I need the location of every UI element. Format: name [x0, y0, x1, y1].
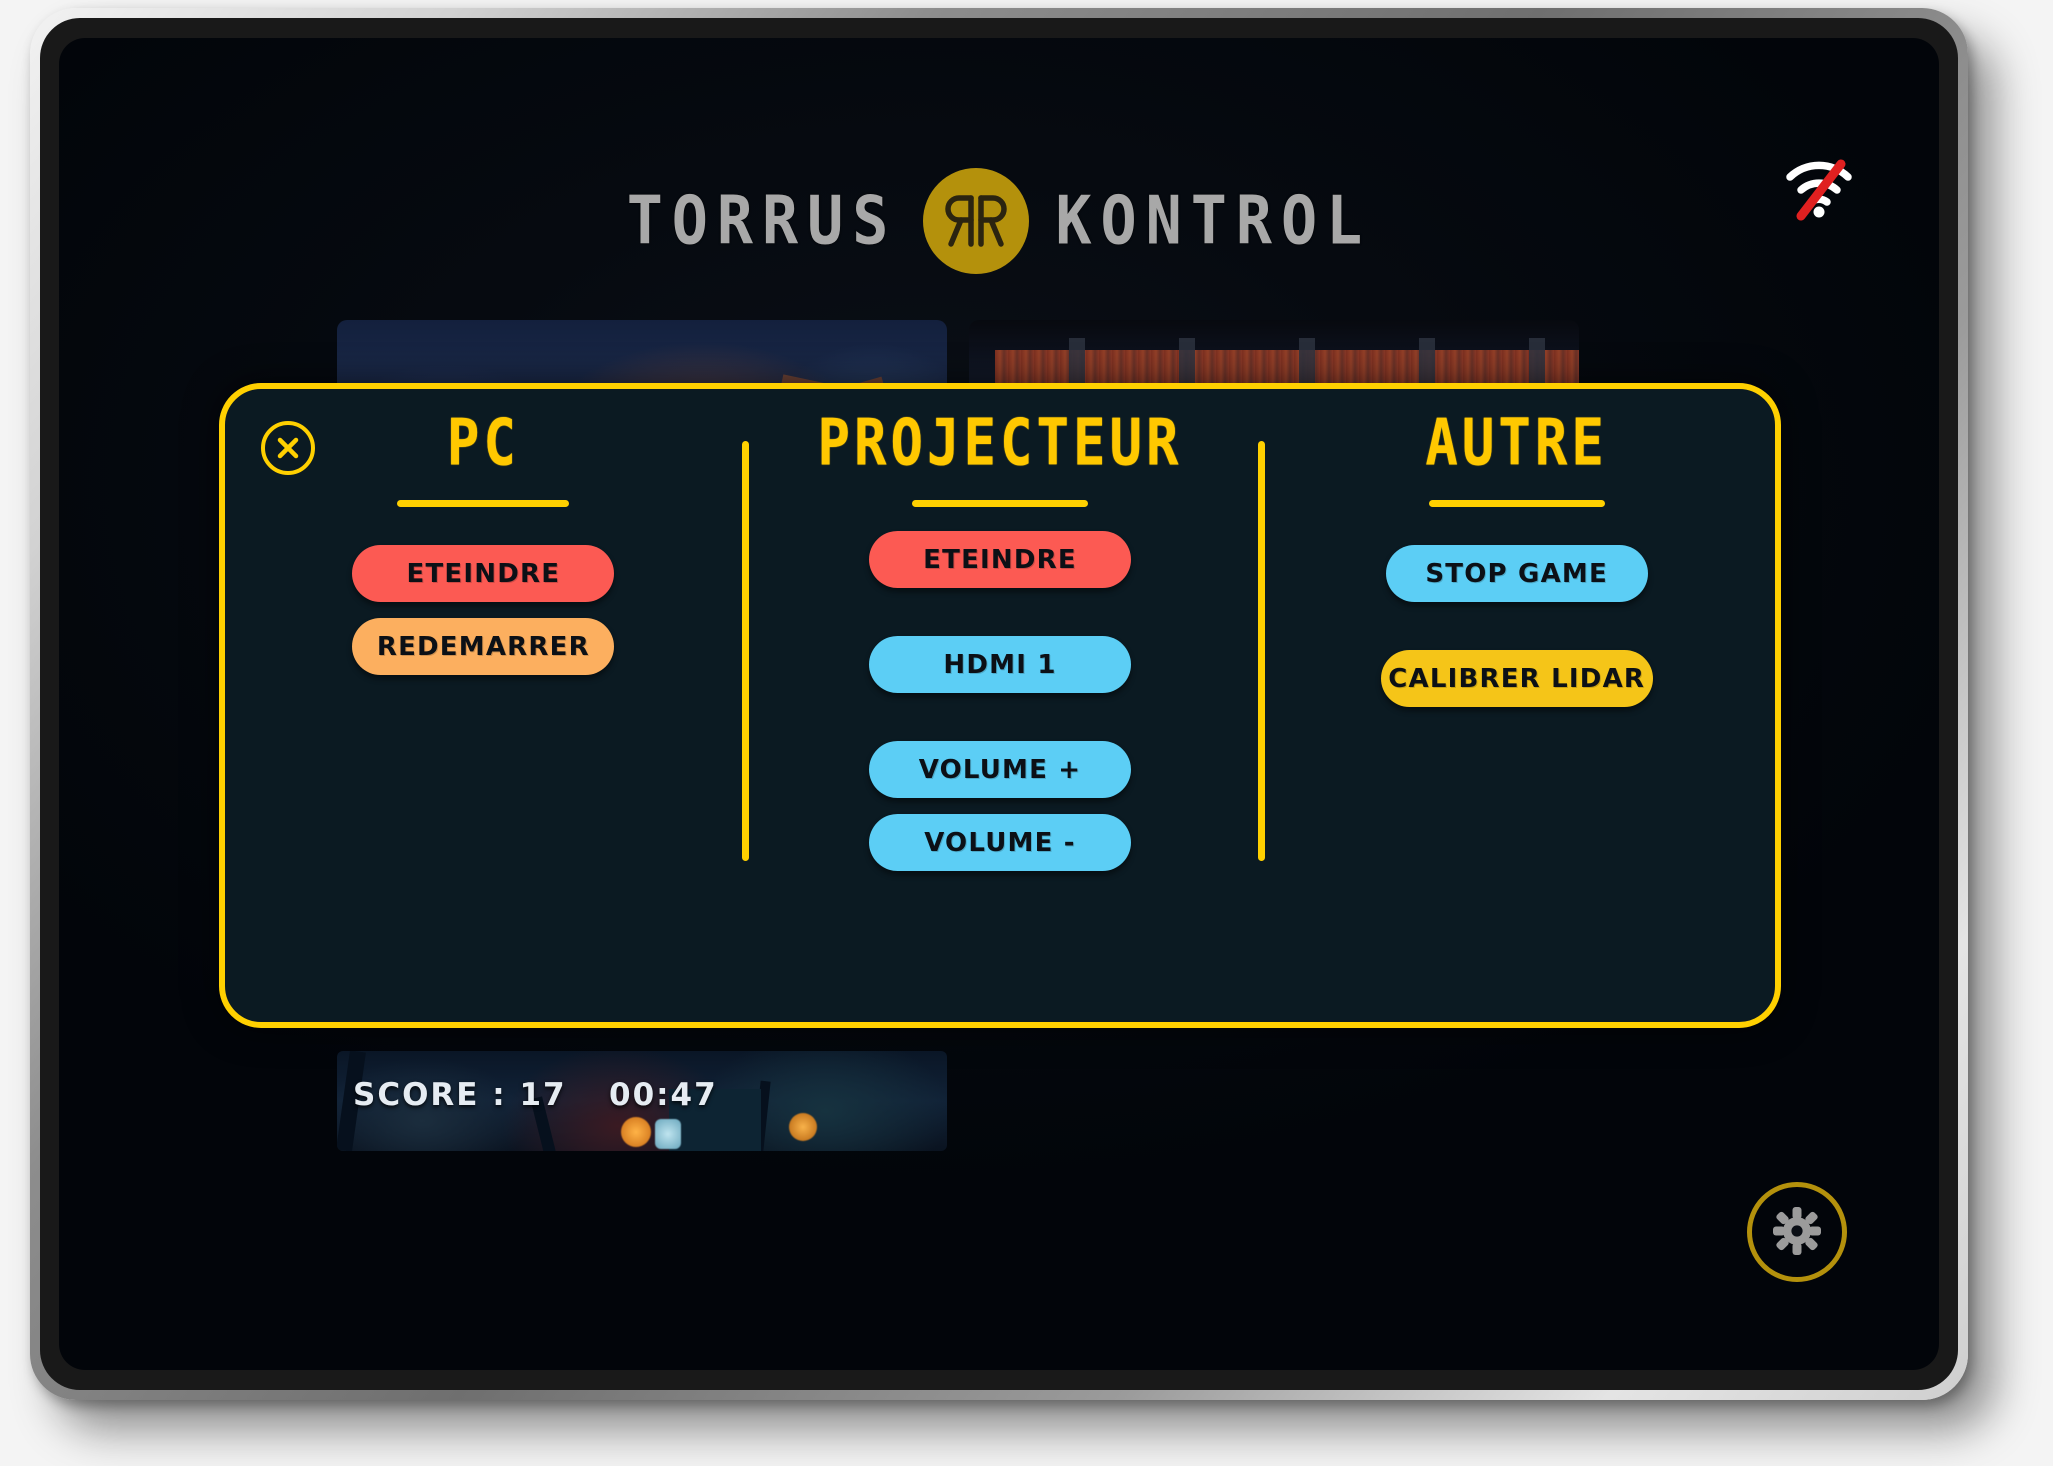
button-stack-projecteur: ETEINDRE HDMI 1 VOLUME + VOLUME - [742, 531, 1259, 871]
gear-icon [1771, 1205, 1823, 1260]
projector-power-off-button[interactable]: ETEINDRE [869, 531, 1131, 588]
button-stack-pc: ETEINDRE REDEMARRER [225, 545, 742, 675]
title-divider-pc [397, 500, 569, 507]
timer-readout: 00:47 [609, 1077, 718, 1113]
scene-lantern [655, 1119, 681, 1149]
control-column-pc: PC ETEINDRE REDEMARRER [225, 389, 742, 1022]
app-header: TORRUS [59, 166, 1939, 276]
pc-power-off-button[interactable]: ETEINDRE [352, 545, 614, 602]
projector-volume-down-button[interactable]: VOLUME - [869, 814, 1131, 871]
tablet-device-frame: TORRUS [30, 8, 1968, 1400]
projector-volume-up-button[interactable]: VOLUME + [869, 741, 1131, 798]
title-divider-autre [1429, 500, 1605, 507]
torrus-monogram-icon [923, 168, 1029, 274]
control-columns: PC ETEINDRE REDEMARRER PROJECTEUR ETEIND… [225, 389, 1775, 1022]
title-divider-projecteur [912, 500, 1088, 507]
active-game-status-bar[interactable]: SCORE : 17 00:47 [337, 1051, 947, 1151]
brand-name-left: TORRUS [627, 182, 898, 260]
device-bezel: TORRUS [40, 18, 1958, 1390]
settings-button[interactable] [1747, 1182, 1847, 1282]
score-readout: SCORE : 17 [353, 1077, 567, 1113]
brand-name-right: KONTROL [1055, 182, 1371, 260]
tablet-screen: TORRUS [59, 38, 1939, 1370]
stop-game-button[interactable]: STOP GAME [1386, 545, 1648, 602]
column-title-projecteur: PROJECTEUR [817, 405, 1182, 479]
column-title-pc: PC [447, 405, 520, 479]
scene-lantern [789, 1113, 817, 1141]
control-column-projecteur: PROJECTEUR ETEINDRE HDMI 1 VOLUME + VOLU… [742, 389, 1259, 1022]
pc-restart-button[interactable]: REDEMARRER [352, 618, 614, 675]
wifi-off-icon [1781, 156, 1857, 222]
projector-hdmi1-button[interactable]: HDMI 1 [869, 636, 1131, 693]
control-column-autre: AUTRE STOP GAME CALIBRER LIDAR [1258, 389, 1775, 1022]
column-title-autre: AUTRE [1425, 405, 1608, 479]
calibrate-lidar-button[interactable]: CALIBRER LIDAR [1381, 650, 1653, 707]
scene-lantern [621, 1117, 651, 1147]
button-stack-autre: STOP GAME CALIBRER LIDAR [1258, 545, 1775, 707]
device-control-modal: PC ETEINDRE REDEMARRER PROJECTEUR ETEIND… [219, 383, 1781, 1028]
